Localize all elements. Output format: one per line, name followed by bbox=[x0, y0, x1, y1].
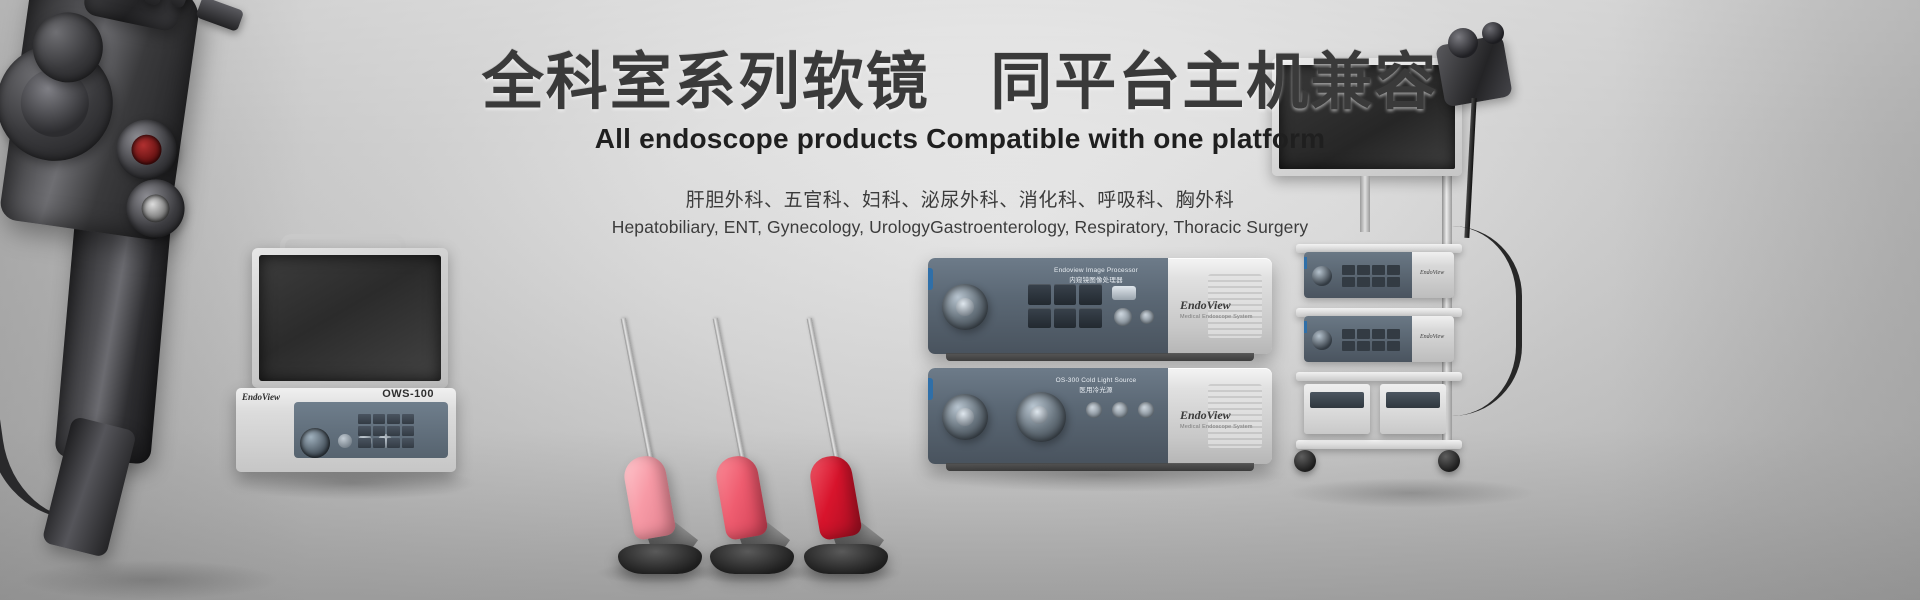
console-title: OS-300 Cold Light Source 医用冷光源 bbox=[1032, 376, 1160, 396]
cart-unit-accent bbox=[1304, 321, 1307, 333]
console-keypad bbox=[1028, 284, 1102, 328]
cart-unit-buttons bbox=[1342, 329, 1400, 351]
console-port-usb bbox=[1112, 286, 1136, 300]
forceps-handle bbox=[621, 453, 677, 541]
cart-caster-left bbox=[1294, 450, 1316, 472]
console-brand-label: EndoView bbox=[1180, 408, 1231, 423]
banner-text-block: 全科室系列软镜 同平台主机兼容 All endoscope products C… bbox=[0, 50, 1920, 238]
console-indicator-led bbox=[1140, 310, 1154, 324]
cart-accessory-box-2 bbox=[1380, 384, 1446, 434]
forceps-stand-base bbox=[710, 544, 794, 574]
console-front-panel: OS-300 Cold Light Source 医用冷光源 bbox=[928, 368, 1168, 464]
console-button-2 bbox=[1112, 402, 1128, 418]
cart-unit-2: EndoView bbox=[1304, 316, 1454, 362]
console-title-line1: OS-300 Cold Light Source bbox=[1032, 376, 1160, 386]
departments-chinese: 肝胆外科、五官科、妇科、泌尿外科、消化科、呼吸科、胸外科 bbox=[0, 185, 1920, 212]
product-banner: 全科室系列软镜 同平台主机兼容 All endoscope products C… bbox=[0, 0, 1920, 600]
cart-unit-dial bbox=[1312, 266, 1332, 286]
headline-part-2: 同平台主机兼容 bbox=[990, 48, 1438, 117]
console-subcaption: Medical Endoscope System bbox=[1180, 314, 1253, 320]
departments-english: Hepatobiliary, ENT, Gynecology, UrologyG… bbox=[0, 217, 1920, 238]
console-button-1 bbox=[1086, 402, 1102, 418]
console-brand-label: EndoView bbox=[1180, 298, 1231, 313]
headline: 全科室系列软镜 同平台主机兼容 bbox=[0, 50, 1920, 117]
console-port-round bbox=[1114, 308, 1132, 326]
workstation-button-1 bbox=[338, 434, 352, 448]
stacked-consoles: Endoview Image Processor 内窥镜图像处理器 EndoVi… bbox=[928, 258, 1272, 473]
cart-unit-buttons bbox=[1342, 265, 1400, 287]
console-subcaption: Medical Endoscope System bbox=[1180, 424, 1253, 430]
console-brightness-knob bbox=[1016, 392, 1066, 442]
endoscope-lever-3 bbox=[195, 0, 244, 32]
workstation-ows100: EndoView OWS-100 bbox=[236, 248, 456, 488]
shadow-endoscope bbox=[20, 560, 280, 600]
workstation-display bbox=[252, 248, 448, 388]
cart-accessory-box-1 bbox=[1304, 384, 1370, 434]
console-feet bbox=[946, 353, 1254, 361]
cart-unit-brand: EndoView bbox=[1420, 334, 1444, 340]
workstation-control-panel: OWS-100 bbox=[294, 402, 448, 458]
console-title-line1: Endoview Image Processor bbox=[1032, 266, 1160, 276]
console-light-source: OS-300 Cold Light Source 医用冷光源 EndoView … bbox=[928, 368, 1272, 464]
workstation-model-label: OWS-100 bbox=[382, 388, 434, 400]
forceps-handle bbox=[807, 453, 863, 541]
workstation-base: EndoView OWS-100 bbox=[236, 388, 456, 472]
console-title: Endoview Image Processor 内窥镜图像处理器 bbox=[1032, 266, 1160, 286]
cart-unit-brand: EndoView bbox=[1420, 270, 1444, 276]
forceps-stand-base bbox=[804, 544, 888, 574]
cart-unit-panel bbox=[1304, 252, 1412, 298]
console-accent-stripe bbox=[928, 268, 933, 290]
console-button-3 bbox=[1138, 402, 1154, 418]
cart-caster-right bbox=[1438, 450, 1460, 472]
headline-part-1: 全科室系列软镜 bbox=[482, 48, 930, 117]
workstation-dial bbox=[300, 428, 330, 458]
cart-unit-1: EndoView bbox=[1304, 252, 1454, 298]
cart-shelf-3 bbox=[1296, 372, 1462, 381]
console-main-dial bbox=[942, 284, 988, 330]
forceps-stand-base bbox=[618, 544, 702, 574]
cart-unit-accent bbox=[1304, 257, 1307, 269]
console-light-port bbox=[942, 394, 988, 440]
forceps-handle bbox=[713, 453, 769, 541]
cart-endoscope-knob-small bbox=[1482, 22, 1504, 44]
forceps-instrument-3 bbox=[786, 324, 906, 574]
console-feet bbox=[946, 463, 1254, 471]
cart-shelf-4 bbox=[1296, 440, 1462, 449]
console-accent-stripe bbox=[928, 378, 933, 400]
workstation-keypad bbox=[358, 414, 414, 448]
workstation-brand-label: EndoView bbox=[242, 392, 280, 402]
subheadline-english: All endoscope products Compatible with o… bbox=[0, 123, 1920, 155]
cart-unit-dial bbox=[1312, 330, 1332, 350]
console-image-processor: Endoview Image Processor 内窥镜图像处理器 EndoVi… bbox=[928, 258, 1272, 354]
console-front-panel: Endoview Image Processor 内窥镜图像处理器 bbox=[928, 258, 1168, 354]
workstation-screen-surface bbox=[259, 255, 441, 381]
cart-unit-panel bbox=[1304, 316, 1412, 362]
